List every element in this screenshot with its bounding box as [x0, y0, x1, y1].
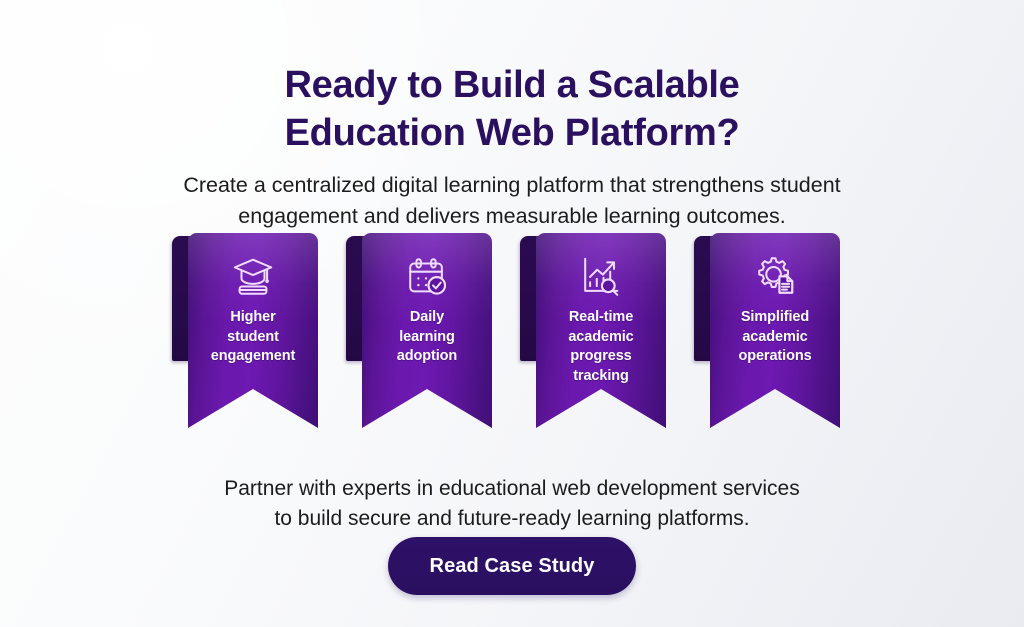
benefit-ribbon-realtime-academic-progress-tracking[interactable]: Real-time academic progress tracking [536, 233, 666, 428]
cta-container: Read Case Study [0, 537, 1024, 595]
ribbon-label: Daily learning adoption [366, 308, 488, 367]
benefit-ribbon-list: Higher student engagement [172, 233, 872, 433]
cta-banner: Ready to Build a Scalable Education Web … [0, 0, 1024, 627]
ribbon-label-line-3: adoption [397, 348, 457, 364]
ribbon-label: Real-time academic progress tracking [540, 308, 662, 386]
calendar-check-icon [404, 253, 450, 299]
ribbon-label-line-1: Higher [230, 309, 275, 325]
ribbon-label-line-2: student [227, 329, 279, 345]
ribbon-label-line-1: Daily [410, 309, 444, 325]
read-case-study-button[interactable]: Read Case Study [388, 537, 637, 595]
benefit-ribbon-simplified-academic-operations[interactable]: Simplified academic operations [710, 233, 840, 428]
page-title: Ready to Build a Scalable Education Web … [0, 61, 1024, 157]
ribbon-label-line-1: Simplified [741, 309, 809, 325]
ribbon-label-line-3: engagement [211, 348, 295, 364]
subheading-line-2: engagement and delivers measurable learn… [112, 201, 912, 232]
benefit-ribbon-higher-student-engagement[interactable]: Higher student engagement [188, 233, 318, 428]
ribbon-label-line-3: progress [570, 348, 631, 364]
closing-text: Partner with experts in educational web … [112, 474, 912, 534]
subheading: Create a centralized digital learning pl… [112, 170, 912, 232]
graduation-cap-book-icon [230, 253, 276, 299]
ribbon-label-line-4: tracking [573, 368, 629, 384]
benefit-ribbon-daily-learning-adoption[interactable]: Daily learning adoption [362, 233, 492, 428]
ribbon-label-line-2: academic [742, 329, 807, 345]
closing-line-2: to build secure and future-ready learnin… [112, 504, 912, 534]
ribbon-label: Higher student engagement [192, 308, 314, 367]
closing-line-1: Partner with experts in educational web … [112, 474, 912, 504]
ribbon-label-line-2: academic [568, 329, 633, 345]
ribbon-label: Simplified academic operations [714, 308, 836, 367]
bar-chart-growth-search-icon [578, 253, 624, 299]
ribbon-label-line-1: Real-time [569, 309, 633, 325]
ribbon-label-line-3: operations [738, 348, 811, 364]
headline-line-2: Education Web Platform? [0, 109, 1024, 157]
ribbon-label-line-2: learning [399, 329, 455, 345]
headline-line-1: Ready to Build a Scalable [0, 61, 1024, 109]
gear-document-icon [752, 253, 798, 299]
subheading-line-1: Create a centralized digital learning pl… [112, 170, 912, 201]
